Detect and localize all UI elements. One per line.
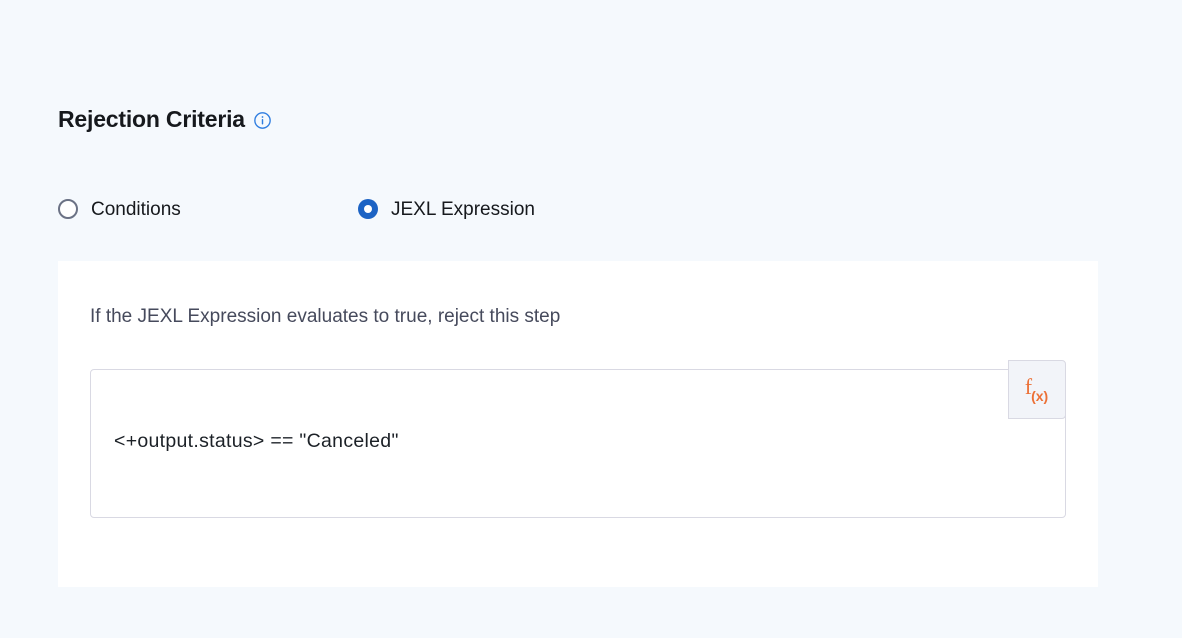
fx-label: f(x) bbox=[1025, 376, 1049, 401]
radio-option-conditions[interactable]: Conditions bbox=[58, 199, 358, 219]
radio-label-jexl-expression: JEXL Expression bbox=[391, 200, 535, 219]
fx-expression-icon[interactable]: f(x) bbox=[1008, 360, 1066, 419]
section-header: Rejection Criteria bbox=[58, 108, 271, 131]
radio-option-jexl-expression[interactable]: JEXL Expression bbox=[358, 199, 535, 219]
radio-inner-dot bbox=[364, 205, 372, 213]
jexl-expression-input[interactable]: <+output.status> == "Canceled" bbox=[90, 369, 1066, 518]
info-circle-icon-svg bbox=[254, 112, 271, 129]
page-title: Rejection Criteria bbox=[58, 108, 245, 131]
fx-label-sub: (x) bbox=[1031, 388, 1048, 404]
info-circle-icon[interactable] bbox=[254, 111, 271, 128]
jexl-expression-value: <+output.status> == "Canceled" bbox=[114, 432, 399, 452]
criteria-type-radio-group: Conditions JEXL Expression bbox=[58, 199, 535, 219]
expression-field-wrapper: <+output.status> == "Canceled" f(x) bbox=[90, 369, 1066, 518]
jexl-hint-text: If the JEXL Expression evaluates to true… bbox=[90, 307, 560, 326]
criteria-card: If the JEXL Expression evaluates to true… bbox=[58, 261, 1098, 587]
radio-circle-conditions[interactable] bbox=[58, 199, 78, 219]
radio-label-conditions: Conditions bbox=[91, 200, 181, 219]
radio-circle-jexl-expression[interactable] bbox=[358, 199, 378, 219]
